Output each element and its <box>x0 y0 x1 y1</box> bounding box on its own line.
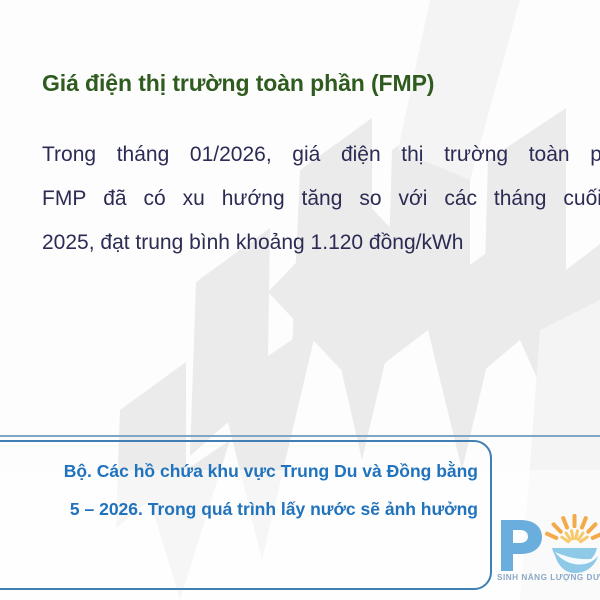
body-word: với <box>398 177 427 221</box>
callout-line-2: 5 – 2026. Trong quá trình lấy nước sẽ ản… <box>0 490 478 528</box>
horizontal-divider <box>0 435 600 437</box>
slide-canvas: Giá điện thị trường toàn phần (FMP) Tron… <box>0 0 600 600</box>
body-word: giá <box>292 133 320 177</box>
body-word: thị <box>401 133 423 177</box>
logo-letter-p-icon <box>501 520 542 571</box>
body-line-1: Trong tháng 01/2026, giá điện thị trường… <box>42 133 600 177</box>
body-word: toàn <box>529 133 570 177</box>
body-line-3: 2025, đạt trung bình khoảng 1.120 đồng/k… <box>42 221 600 265</box>
body-word: các <box>444 177 477 221</box>
page-title: Giá điện thị trường toàn phần (FMP) <box>42 70 434 97</box>
body-word: có <box>144 177 166 221</box>
callout-line-1: Bộ. Các hồ chứa khu vực Trung Du và Đồng… <box>0 452 478 490</box>
sun-icon <box>544 514 600 544</box>
body-word: p <box>590 133 600 177</box>
body-word: Trong <box>42 133 96 177</box>
body-word: so <box>359 177 381 221</box>
body-word: trường <box>444 133 508 177</box>
body-word: tháng <box>117 133 170 177</box>
body-paragraph: Trong tháng 01/2026, giá điện thị trường… <box>42 133 600 265</box>
logo-tagline: SINH NĂNG LƯỢNG DƯƠNG <box>497 573 600 582</box>
body-word: 01/2026, <box>190 133 272 177</box>
body-word: cuối <box>563 177 600 221</box>
body-word: FMP <box>42 177 86 221</box>
body-word: điện <box>341 133 381 177</box>
body-word: tăng <box>302 177 343 221</box>
body-word: xu <box>183 177 205 221</box>
body-line-2: FMP đã có xu hướng tăng so với các tháng… <box>42 177 600 221</box>
body-word: tháng <box>494 177 547 221</box>
body-word: đã <box>103 177 126 221</box>
wave-leaf-icon <box>552 548 598 573</box>
callout-text: Bộ. Các hồ chứa khu vực Trung Du và Đồng… <box>0 452 478 528</box>
body-word: hướng <box>222 177 285 221</box>
